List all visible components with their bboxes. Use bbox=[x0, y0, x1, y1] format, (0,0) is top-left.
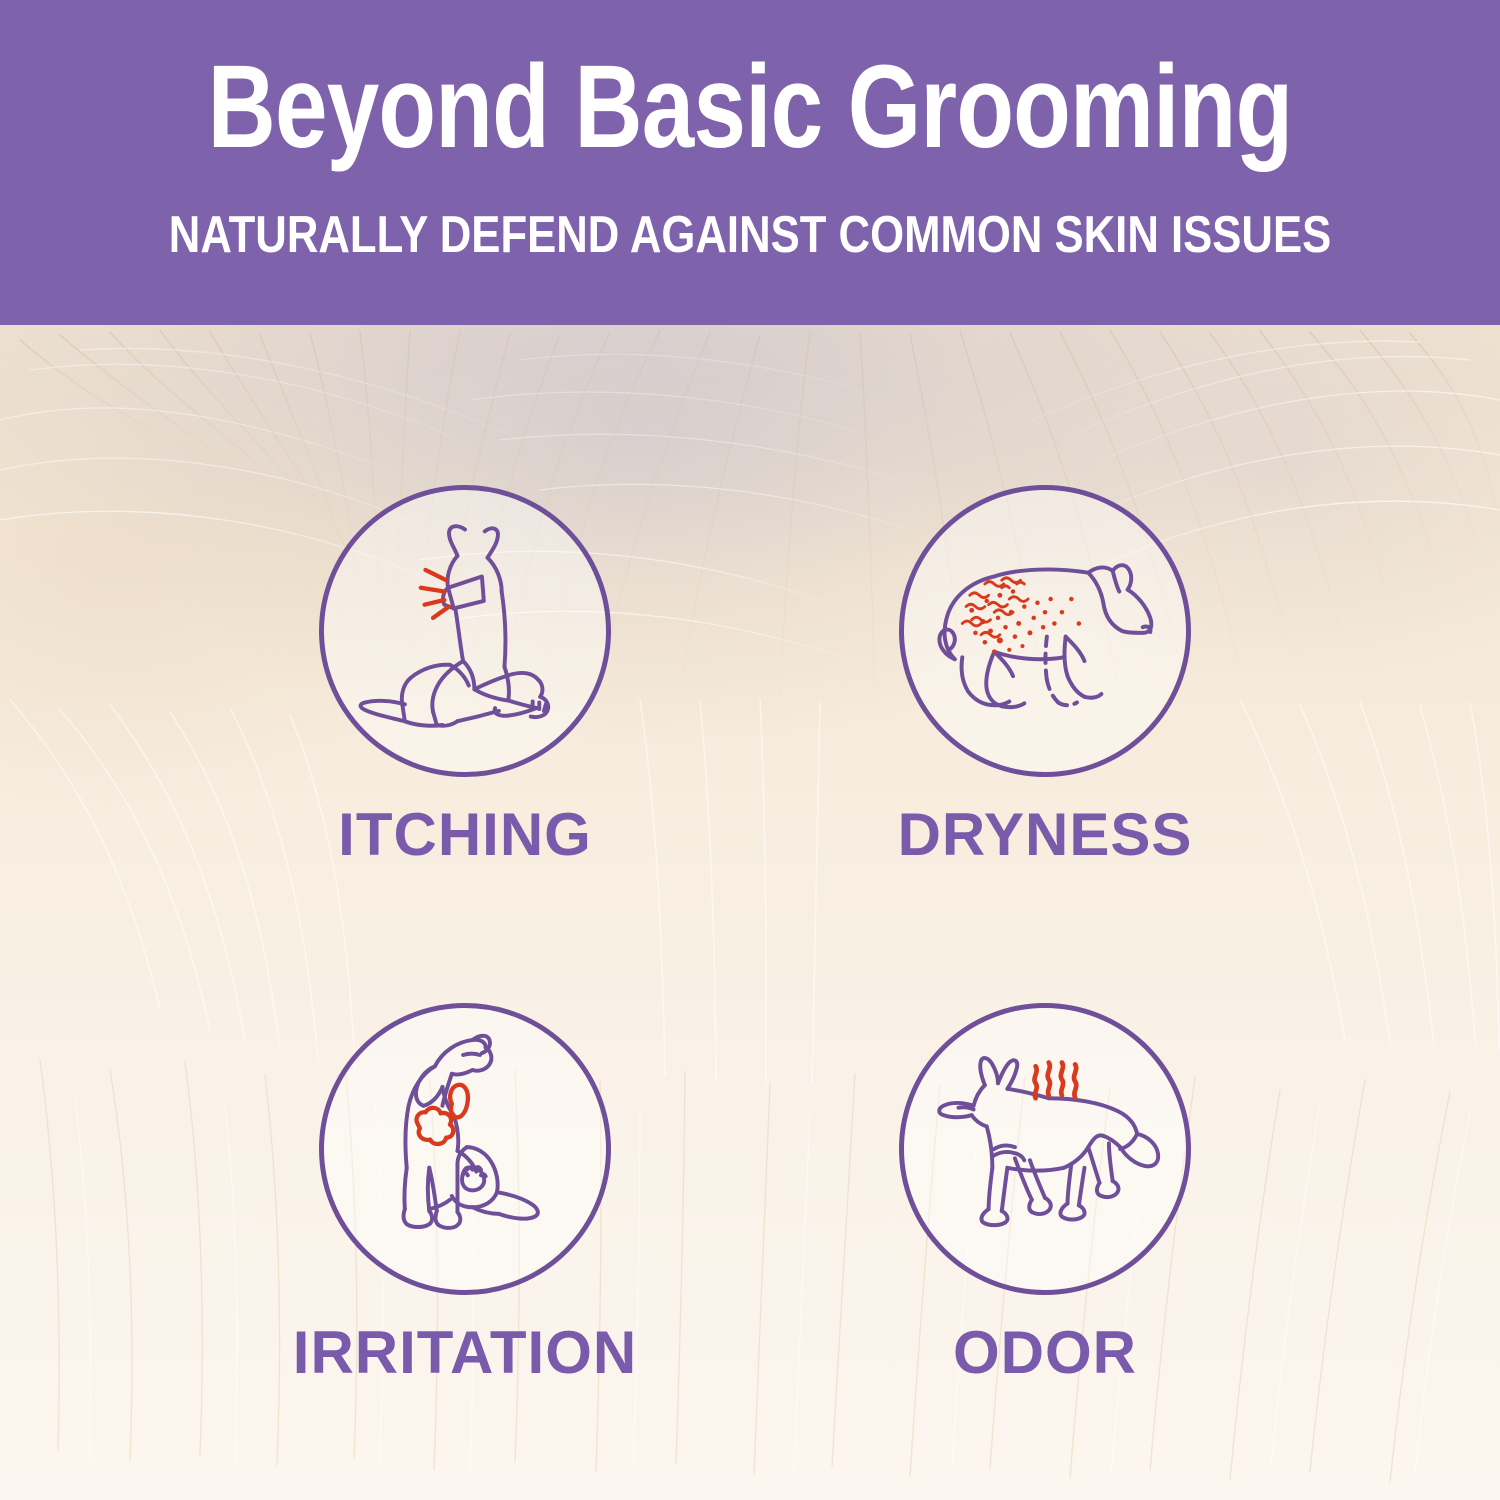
dog-flaky-skin-icon bbox=[904, 490, 1186, 772]
stink-waves-accent bbox=[1035, 1063, 1077, 1099]
feature-item-odor: ODOR bbox=[745, 1003, 1345, 1383]
feature-item-irritation: IRRITATION bbox=[165, 1003, 765, 1383]
dog-odor-icon bbox=[904, 1008, 1186, 1290]
dog-scratching-icon bbox=[324, 490, 606, 772]
feature-grid: ITCHING bbox=[0, 325, 1500, 1500]
feature-label-itching: ITCHING bbox=[165, 805, 765, 865]
icon-circle-itching bbox=[319, 485, 611, 777]
icon-circle-irritation bbox=[319, 1003, 611, 1295]
header-banner: Beyond Basic Grooming NATURALLY DEFEND A… bbox=[0, 0, 1500, 325]
page-title: Beyond Basic Grooming bbox=[150, 48, 1350, 166]
promo-graphic: Beyond Basic Grooming NATURALLY DEFEND A… bbox=[0, 0, 1500, 1500]
feature-label-dryness: DRYNESS bbox=[745, 805, 1345, 865]
dog-irritated-patch-icon bbox=[324, 1008, 606, 1290]
icon-circle-odor bbox=[899, 1003, 1191, 1295]
feature-label-odor: ODOR bbox=[745, 1323, 1345, 1383]
feature-item-dryness: DRYNESS bbox=[745, 485, 1345, 865]
page-subtitle: NATURALLY DEFEND AGAINST COMMON SKIN ISS… bbox=[120, 209, 1380, 261]
feature-item-itching: ITCHING bbox=[165, 485, 765, 865]
feature-label-irritation: IRRITATION bbox=[165, 1323, 765, 1383]
icon-circle-dryness bbox=[899, 485, 1191, 777]
